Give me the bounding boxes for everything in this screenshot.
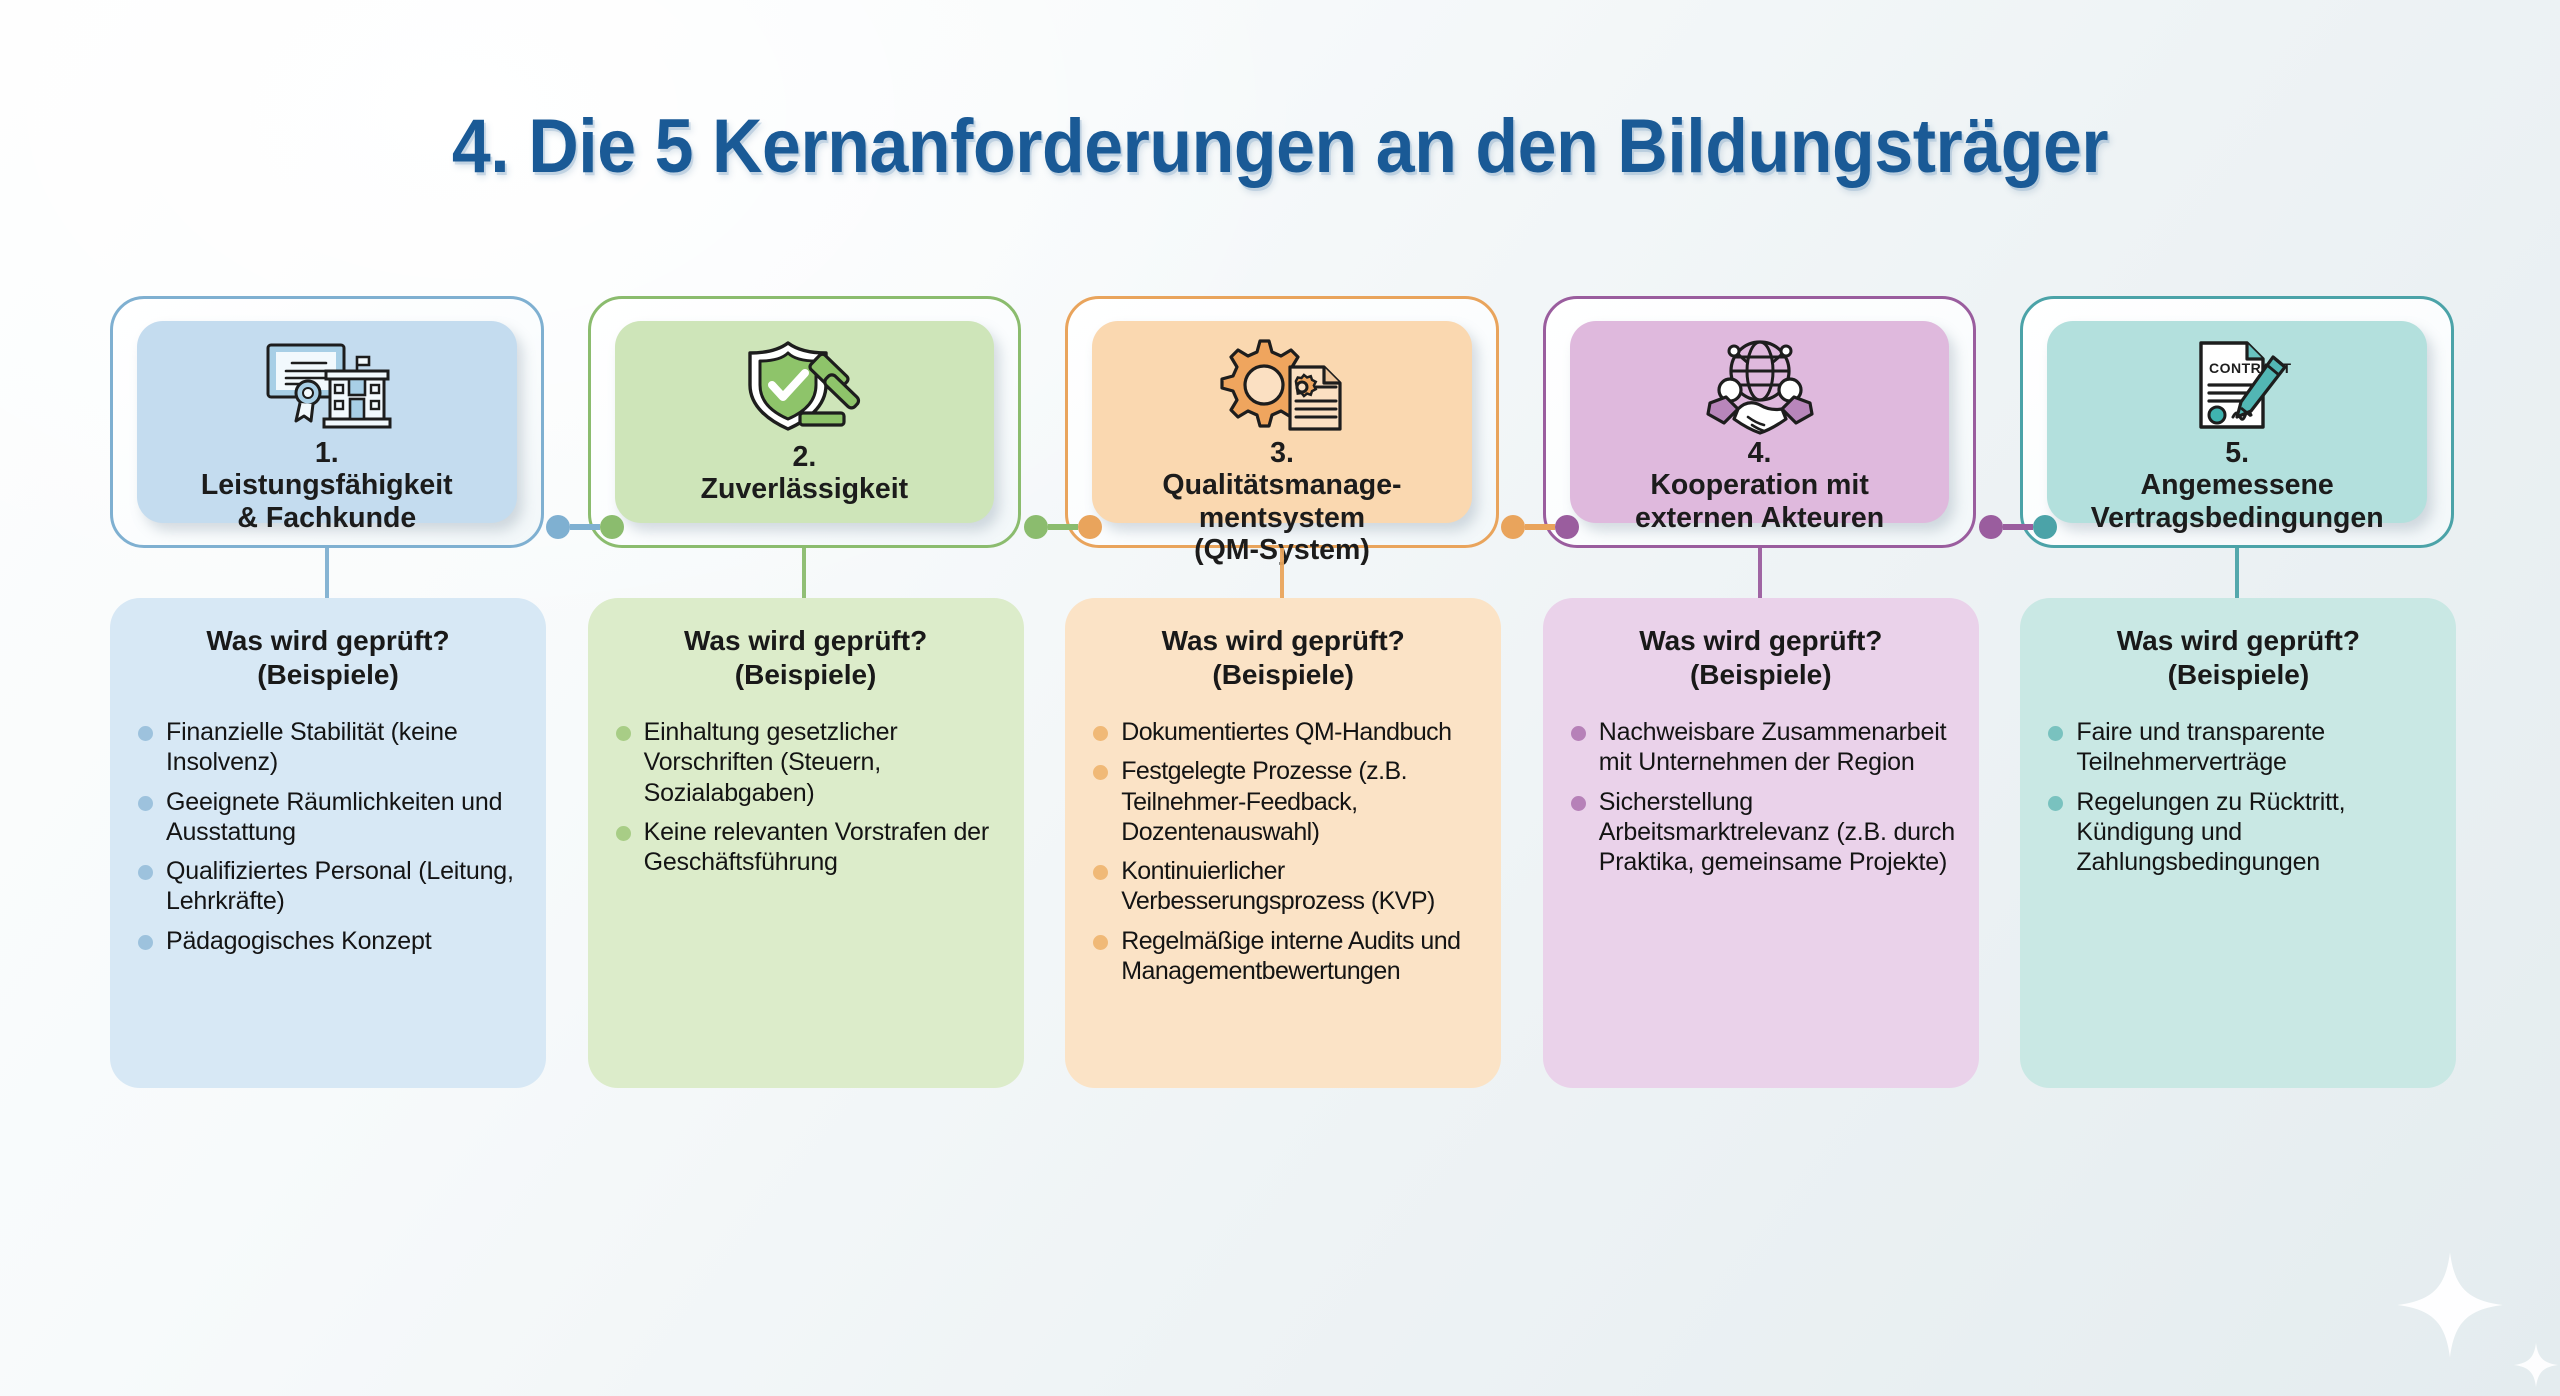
detail-list-1: Finanzielle Stabilität (keine Insolvenz)… [132, 717, 524, 956]
drop-connector-1 [325, 548, 329, 598]
requirement-card-1-inner: 1. Leistungsfähigkeit & Fachkunde [137, 321, 517, 523]
connector-1-2 [546, 515, 624, 539]
detail-list-2: Einhaltung gesetzlicher Vorschriften (St… [610, 717, 1002, 877]
panel-head-line1: Was wird geprüft? [2117, 625, 2360, 656]
list-item: Finanzielle Stabilität (keine Insolvenz) [132, 717, 524, 778]
requirement-card-4[interactable]: 4. Kooperation mit externen Akteuren [1543, 296, 1977, 548]
shield-check-gavel-icon [734, 335, 874, 439]
detail-list-4: Nachweisbare Zusammenarbeit mit Unterneh… [1565, 717, 1957, 877]
list-item: Keine relevanten Vorstrafen der Geschäft… [610, 817, 1002, 878]
requirement-card-3[interactable]: 3. Qualitätsmanage- mentsystem (QM-Syste… [1065, 296, 1499, 548]
list-item: Geeignete Räumlichkeiten und Ausstattung [132, 787, 524, 848]
requirement-card-5-title: 5. Angemessene Vertragsbedingungen [2083, 437, 2392, 534]
detail-panel-3: Was wird geprüft? (Beispiele) Dokumentie… [1065, 598, 1501, 1088]
requirement-card-1-title: 1. Leistungsfähigkeit & Fachkunde [193, 437, 461, 534]
requirement-column-3: 3. Qualitätsmanage- mentsystem (QM-Syste… [1065, 296, 1499, 1296]
requirement-column-5: CONTRACT 5. Angemessene [2020, 296, 2454, 1296]
requirement-column-2: 2. Zuverlässigkeit Was wird geprüft? (Be… [588, 296, 1022, 1296]
panel-head-line2: (Beispiele) [132, 658, 524, 692]
requirement-card-4-title: 4. Kooperation mit externen Akteuren [1627, 437, 1892, 534]
detail-list-3: Dokumentiertes QM-Handbuch Festgelegte P… [1087, 717, 1479, 986]
connector-dot-right [2033, 515, 2057, 539]
detail-panel-2: Was wird geprüft? (Beispiele) Einhaltung… [588, 598, 1024, 1088]
sparkle-small-decoration [2513, 1342, 2559, 1388]
panel-head-line2: (Beispiele) [610, 658, 1002, 692]
certificate-school-icon [252, 335, 402, 435]
requirement-column-4: 4. Kooperation mit externen Akteuren Was… [1543, 296, 1977, 1296]
contract-pen-icon: CONTRACT [2167, 335, 2307, 435]
panel-head-line2: (Beispiele) [2042, 658, 2434, 692]
connector-3-4 [1501, 515, 1579, 539]
panel-head-line1: Was wird geprüft? [206, 625, 449, 656]
list-item: Dokumentiertes QM-Handbuch [1087, 717, 1479, 747]
connector-line [2003, 524, 2033, 530]
list-item: Faire und transparente Teilnehmerverträg… [2042, 717, 2434, 778]
requirement-card-5[interactable]: CONTRACT 5. Angemessene [2020, 296, 2454, 548]
requirement-number-5: 5. [2091, 437, 2384, 469]
connector-line [570, 524, 600, 530]
requirement-name-1-line2: & Fachkunde [237, 502, 416, 534]
connector-dot-left [1501, 515, 1525, 539]
requirement-name-4-line1: Kooperation mit [1650, 469, 1869, 501]
requirement-card-1[interactable]: 1. Leistungsfähigkeit & Fachkunde [110, 296, 544, 548]
list-item: Qualifiziertes Personal (Leitung, Lehrkr… [132, 856, 524, 917]
requirement-name-2-line1: Zuverlässigkeit [701, 473, 909, 505]
infographic-canvas: 4. Die 5 Kernanforderungen an den Bildun… [0, 0, 2560, 1396]
panel-head-line1: Was wird geprüft? [1162, 625, 1405, 656]
requirement-number-4: 4. [1635, 437, 1884, 469]
list-item: Sicherstellung Arbeitsmarktrelevanz (z.B… [1565, 787, 1957, 878]
connector-dot-right [600, 515, 624, 539]
connector-4-5 [1979, 515, 2057, 539]
requirement-name-1-line1: Leistungsfähigkeit [201, 469, 453, 501]
connector-dot-right [1555, 515, 1579, 539]
connector-dot-left [546, 515, 570, 539]
list-item: Regelungen zu Rücktritt, Kündigung und Z… [2042, 787, 2434, 878]
list-item: Nachweisbare Zusammenarbeit mit Unterneh… [1565, 717, 1957, 778]
drop-connector-2 [802, 548, 806, 598]
list-item: Festgelegte Prozesse (z.B. Teilnehmer-Fe… [1087, 756, 1479, 847]
detail-panel-1: Was wird geprüft? (Beispiele) Finanziell… [110, 598, 546, 1088]
connector-dot-left [1979, 515, 2003, 539]
detail-panel-3-heading: Was wird geprüft? (Beispiele) [1087, 624, 1479, 691]
requirement-card-5-inner: CONTRACT 5. Angemessene [2047, 321, 2427, 523]
requirement-name-3-line2: mentsystem [1199, 502, 1365, 534]
requirement-card-2-title: 2. Zuverlässigkeit [693, 441, 917, 506]
page-title: 4. Die 5 Kernanforderungen an den Bildun… [102, 103, 2457, 190]
connector-dot-left [1024, 515, 1048, 539]
list-item: Regelmäßige interne Audits und Managemen… [1087, 926, 1591, 987]
globe-handshake-icon [1690, 335, 1830, 435]
requirement-card-2[interactable]: 2. Zuverlässigkeit [588, 296, 1022, 548]
requirement-card-3-inner: 3. Qualitätsmanage- mentsystem (QM-Syste… [1092, 321, 1472, 523]
requirement-number-3: 3. [1162, 437, 1401, 469]
list-item: Einhaltung gesetzlicher Vorschriften (St… [610, 717, 1002, 808]
connector-line [1525, 524, 1555, 530]
requirement-name-4-line2: externen Akteuren [1635, 502, 1884, 534]
requirement-number-2: 2. [701, 441, 909, 473]
requirement-column-1: 1. Leistungsfähigkeit & Fachkunde Was wi… [110, 296, 544, 1296]
detail-panel-2-heading: Was wird geprüft? (Beispiele) [610, 624, 1002, 691]
requirement-card-4-inner: 4. Kooperation mit externen Akteuren [1570, 321, 1950, 523]
panel-head-line2: (Beispiele) [1087, 658, 1479, 692]
connector-line [1048, 524, 1078, 530]
detail-panel-5-heading: Was wird geprüft? (Beispiele) [2042, 624, 2434, 691]
panel-head-line1: Was wird geprüft? [684, 625, 927, 656]
connector-2-3 [1024, 515, 1102, 539]
drop-connector-3 [1280, 548, 1284, 598]
requirement-name-3-line1: Qualitätsmanage- [1162, 469, 1401, 501]
requirement-name-5-line2: Vertragsbedingungen [2091, 502, 2384, 534]
list-item: Kontinuierlicher Verbesserungsprozess (K… [1087, 856, 1479, 917]
gear-document-icon [1212, 335, 1352, 435]
requirement-name-5-line1: Angemessene [2141, 469, 2334, 501]
requirement-card-2-inner: 2. Zuverlässigkeit [615, 321, 995, 523]
detail-list-5: Faire und transparente Teilnehmerverträg… [2042, 717, 2434, 877]
drop-connector-5 [2235, 548, 2239, 598]
panel-head-line2: (Beispiele) [1565, 658, 1957, 692]
requirements-row: 1. Leistungsfähigkeit & Fachkunde Was wi… [110, 296, 2454, 1296]
detail-panel-4-heading: Was wird geprüft? (Beispiele) [1565, 624, 1957, 691]
requirement-number-1: 1. [201, 437, 453, 469]
detail-panel-4: Was wird geprüft? (Beispiele) Nachweisba… [1543, 598, 1979, 1088]
detail-panel-5: Was wird geprüft? (Beispiele) Faire und … [2020, 598, 2456, 1088]
list-item: Pädagogisches Konzept [132, 926, 524, 956]
detail-panel-1-heading: Was wird geprüft? (Beispiele) [132, 624, 524, 691]
connector-dot-right [1078, 515, 1102, 539]
panel-head-line1: Was wird geprüft? [1639, 625, 1882, 656]
drop-connector-4 [1758, 548, 1762, 598]
